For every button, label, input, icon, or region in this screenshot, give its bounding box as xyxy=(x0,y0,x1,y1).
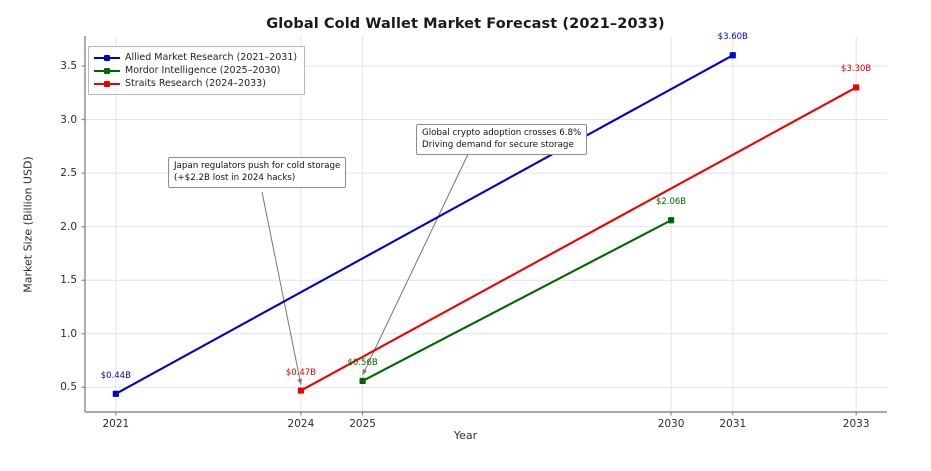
x-tick-label: 2021 xyxy=(102,418,129,430)
legend-label-straits: Straits Research (2024–2033) xyxy=(125,78,266,89)
y-tick-label: 1.0 xyxy=(39,328,77,340)
data-point-marker xyxy=(113,391,119,397)
y-tick-label: 0.5 xyxy=(39,381,77,393)
y-tick-label: 3.0 xyxy=(39,114,77,126)
x-tick-label: 2031 xyxy=(719,418,746,430)
x-tick-label: 2024 xyxy=(288,418,315,430)
data-point-label: $0.44B xyxy=(101,371,131,381)
data-point-marker xyxy=(360,378,366,384)
data-point-label: $0.56B xyxy=(348,358,378,368)
data-point-label: $2.06B xyxy=(656,197,686,207)
legend-swatch-icon xyxy=(94,78,120,89)
x-axis-label: Year xyxy=(0,429,931,442)
y-tick-label: 3.5 xyxy=(39,60,77,72)
data-point-label: $3.60B xyxy=(718,32,748,42)
x-tick-label: 2030 xyxy=(658,418,685,430)
annotation-japan-regulators: Japan regulators push for cold storage (… xyxy=(168,157,346,188)
legend-swatch-icon xyxy=(94,52,120,63)
data-point-label: $0.47B xyxy=(286,368,316,378)
series-line xyxy=(116,55,733,394)
legend-item-allied[interactable]: Allied Market Research (2021–2031) xyxy=(94,51,297,64)
data-point-marker xyxy=(298,387,304,393)
y-tick-label: 1.5 xyxy=(39,274,77,286)
x-tick-label: 2033 xyxy=(843,418,870,430)
legend-label-mordor: Mordor Intelligence (2025–2030) xyxy=(125,65,280,76)
x-tick-label: 2025 xyxy=(349,418,376,430)
legend-label-allied: Allied Market Research (2021–2031) xyxy=(125,52,297,63)
chart-container: Global Cold Wallet Market Forecast (2021… xyxy=(0,0,931,471)
legend-swatch-icon xyxy=(94,65,120,76)
data-point-marker xyxy=(668,217,674,223)
data-point-marker xyxy=(730,52,736,58)
y-tick-label: 2.0 xyxy=(39,221,77,233)
chart-legend[interactable]: Allied Market Research (2021–2031) Mordo… xyxy=(88,46,305,95)
legend-item-straits[interactable]: Straits Research (2024–2033) xyxy=(94,77,297,90)
data-point-marker xyxy=(853,84,859,90)
data-point-label: $3.30B xyxy=(841,64,871,74)
series-line xyxy=(363,220,671,381)
y-tick-label: 2.5 xyxy=(39,167,77,179)
annotation-crypto-adoption: Global crypto adoption crosses 6.8% Driv… xyxy=(416,124,587,155)
legend-item-mordor[interactable]: Mordor Intelligence (2025–2030) xyxy=(94,64,297,77)
y-axis-label: Market Size (Billion USD) xyxy=(22,135,35,315)
